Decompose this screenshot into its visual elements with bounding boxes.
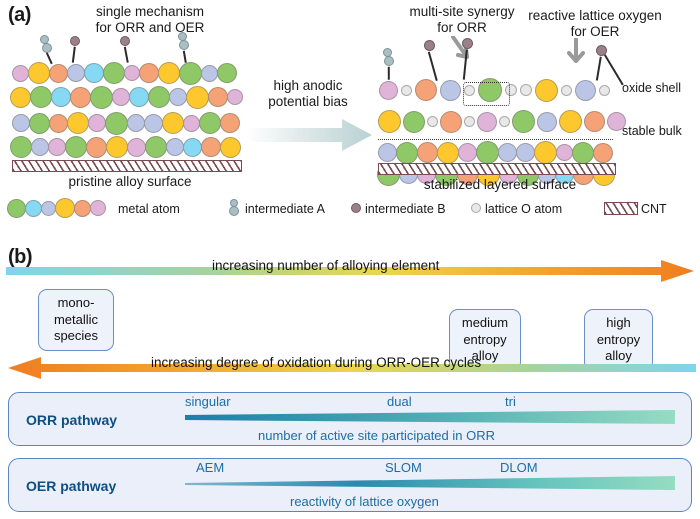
intermediate-a	[384, 56, 394, 66]
metal-atom	[378, 143, 397, 162]
side-label-oxide-shell: oxide shell	[622, 81, 681, 95]
right-bottom-caption: stabilized layered surface	[400, 177, 600, 193]
intermediate-b-swatch	[351, 203, 361, 213]
oer-wedge	[185, 476, 675, 492]
lattice-o-atom	[520, 84, 532, 96]
bond-line	[388, 67, 390, 80]
oer-stage-slom: SLOM	[385, 460, 422, 475]
side-label-stable-bulk: stable bulk	[622, 124, 682, 138]
metal-atom	[55, 198, 75, 218]
intermediate-b	[462, 38, 473, 49]
metal-atom	[476, 141, 499, 164]
metal-atom	[575, 80, 596, 101]
metal-atom	[440, 111, 462, 133]
lattice-oxygen-highlight-box	[463, 82, 510, 106]
legend-metal-atom-swatches	[0, 0, 700, 30]
legend-label-intermediate-b: intermediate B	[365, 202, 446, 216]
orr-subtitle: number of active site participated in OR…	[258, 428, 495, 443]
oer-subtitle: reactivity of lattice oxygen	[290, 494, 439, 509]
chip-mono-metallic-label: mono- metallic species	[54, 295, 98, 345]
lattice-o-atom	[561, 85, 572, 96]
legend-label-metal-atom: metal atom	[118, 202, 180, 216]
metal-atom	[584, 111, 605, 132]
metal-atom	[90, 200, 106, 216]
metal-atom	[379, 81, 398, 100]
orr-stage-tri: tri	[505, 394, 516, 409]
metal-atom	[556, 144, 573, 161]
lattice-o-atom	[599, 85, 610, 96]
bond-line	[428, 52, 438, 81]
cnt-swatch	[604, 202, 638, 215]
orr-pathway-title: ORR pathway	[26, 412, 117, 428]
metal-atom	[440, 80, 461, 101]
oer-stage-aem: AEM	[196, 460, 224, 475]
lattice-o-atom	[499, 116, 510, 127]
intermediate-b	[424, 40, 435, 51]
metal-atom	[437, 142, 459, 164]
intermediate-a-swatch-bottom	[229, 206, 239, 216]
metal-atom	[417, 142, 438, 163]
shell-bulk-divider	[378, 139, 613, 140]
metal-atom	[415, 79, 437, 101]
metal-atom	[477, 112, 497, 132]
metal-atom	[396, 142, 418, 164]
metal-atom	[41, 201, 56, 216]
lattice-o-atom-swatch	[471, 203, 481, 213]
metal-atom	[572, 142, 594, 164]
legend-label-cnt: CNT	[641, 202, 667, 216]
bond-line	[596, 57, 602, 81]
metal-atom	[458, 143, 477, 162]
metal-atom	[403, 111, 425, 133]
metal-atom	[535, 79, 558, 102]
metal-atom	[537, 112, 557, 132]
metal-atom	[7, 199, 26, 218]
metal-atom	[534, 141, 557, 164]
metal-atom	[593, 143, 613, 163]
metal-atom	[516, 143, 535, 162]
metal-atom	[378, 110, 401, 133]
metal-atom	[498, 143, 517, 162]
metal-atom	[559, 110, 582, 133]
lattice-o-atom	[464, 116, 475, 127]
oer-pathway-title: OER pathway	[26, 478, 116, 494]
cnt-substrate-right	[378, 163, 616, 175]
bond-line	[463, 50, 468, 80]
chip-mono-metallic-species[interactable]: mono- metallic species	[38, 289, 114, 351]
bond-line	[604, 54, 623, 85]
legend-label-intermediate-a: intermediate A	[245, 202, 325, 216]
lattice-o-atom	[401, 85, 412, 96]
metal-atom	[512, 110, 535, 133]
arrow-bottom-text: increasing degree of oxidation during OR…	[151, 355, 481, 370]
lattice-o-atom	[427, 116, 438, 127]
orr-wedge	[185, 410, 675, 426]
orr-stage-singular: singular	[185, 394, 231, 409]
metal-atom	[25, 200, 42, 217]
metal-atom	[74, 200, 91, 217]
orr-stage-dual: dual	[387, 394, 412, 409]
arrow-top-text: increasing number of alloying element	[212, 258, 439, 273]
legend-label-lattice-o-atom: lattice O atom	[485, 202, 562, 216]
oer-stage-dlom: DLOM	[500, 460, 538, 475]
